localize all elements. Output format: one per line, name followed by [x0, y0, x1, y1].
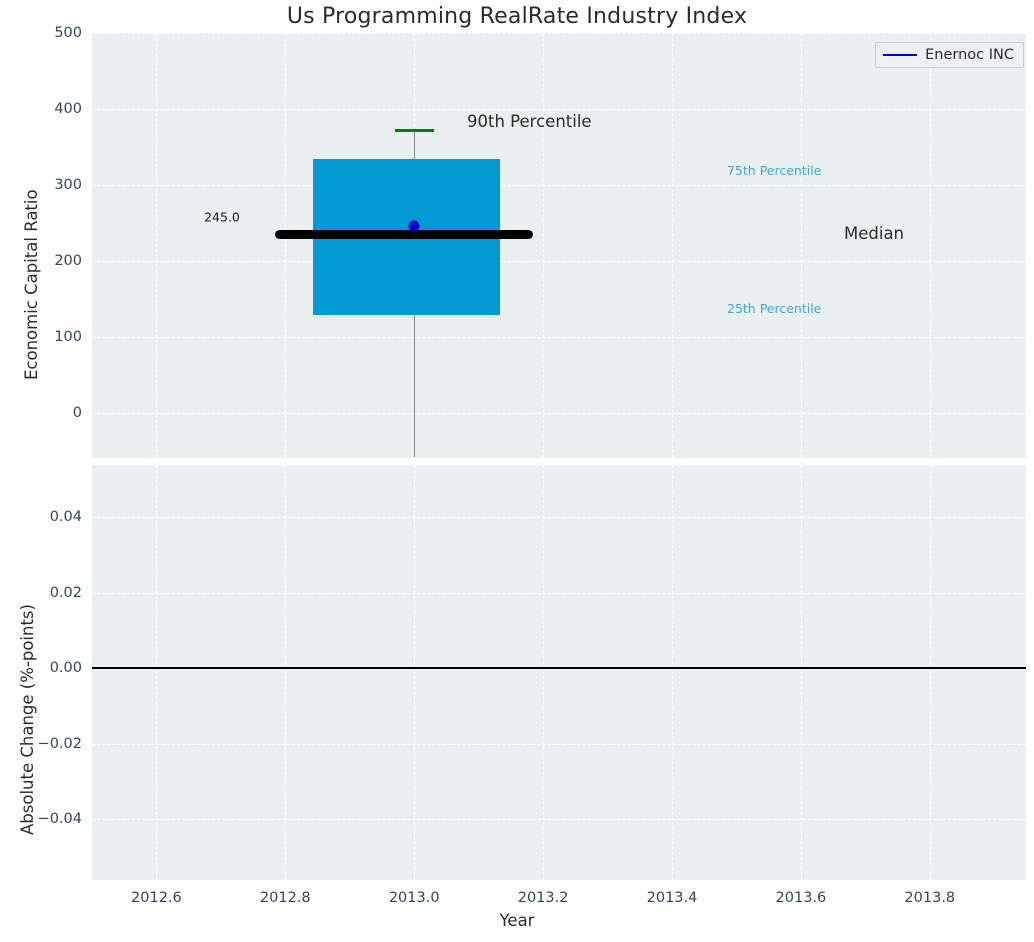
annotation-25th-percentile: 25th Percentile: [727, 301, 821, 316]
chart-figure: Us Programming RealRate Industry Index 9…: [0, 0, 1034, 942]
gridline-h: [92, 744, 1026, 745]
gridline-v: [930, 33, 931, 458]
ytick-top-200: 200: [40, 253, 82, 269]
legend-line-icon: [883, 54, 917, 56]
ytick-top-400: 400: [40, 101, 82, 117]
gridline-h: [92, 185, 1026, 186]
gridline-v: [672, 465, 673, 880]
xtick-2013p6: 2013.6: [776, 890, 827, 906]
plot-area-economic-capital-ratio: 90th Percentile 75th Percentile Median 2…: [92, 33, 1026, 458]
gridline-v: [672, 33, 673, 458]
gridline-h: [92, 109, 1026, 110]
gridline-v: [285, 465, 286, 880]
annotation-75th-percentile: 75th Percentile: [727, 163, 821, 178]
median-value-label: 245.0: [204, 210, 240, 225]
xtick-2013p0: 2013.0: [389, 890, 440, 906]
gridline-h: [92, 413, 1026, 414]
chart-legend[interactable]: Enernoc INC: [875, 42, 1024, 68]
gridline-v: [285, 33, 286, 458]
y-axis-label-top: Economic Capital Ratio: [22, 189, 41, 380]
ytick-top-0: 0: [40, 405, 82, 421]
gridline-v: [801, 33, 802, 458]
gridline-h: [92, 593, 1026, 594]
ytick-top-100: 100: [40, 329, 82, 345]
y-axis-label-bottom: Absolute Change (%-points): [18, 604, 37, 835]
xtick-2012p8: 2012.8: [260, 890, 311, 906]
gridline-v: [156, 33, 157, 458]
legend-label-enernoc-inc: Enernoc INC: [925, 47, 1014, 63]
gridline-v: [801, 465, 802, 880]
annotation-median: Median: [844, 224, 904, 243]
gridline-v: [414, 465, 415, 880]
ytick-bottom-0p02: 0.02: [24, 585, 82, 601]
gridline-v: [156, 465, 157, 880]
gridline-v: [543, 33, 544, 458]
gridline-v: [543, 465, 544, 880]
ytick-top-300: 300: [40, 177, 82, 193]
gridline-h: [92, 517, 1026, 518]
series-point-enernoc-inc: [409, 221, 420, 232]
plot-area-absolute-change: [92, 465, 1026, 880]
whisker-cap-90th: [395, 129, 434, 132]
median-line: [275, 230, 533, 239]
annotation-90th-percentile: 90th Percentile: [467, 112, 592, 131]
xtick-2013p8: 2013.8: [904, 890, 955, 906]
gridline-v: [930, 465, 931, 880]
chart-title: Us Programming RealRate Industry Index: [0, 4, 1034, 29]
xtick-2013p2: 2013.2: [518, 890, 569, 906]
xtick-2012p6: 2012.6: [131, 890, 182, 906]
ytick-bottom-0p04: 0.04: [24, 509, 82, 525]
gridline-h: [92, 261, 1026, 262]
gridline-h: [92, 819, 1026, 820]
gridline-h: [92, 33, 1026, 34]
xtick-2013p4: 2013.4: [647, 890, 698, 906]
x-axis-label: Year: [0, 911, 1034, 930]
gridline-h: [92, 337, 1026, 338]
zero-reference-line: [92, 667, 1026, 669]
